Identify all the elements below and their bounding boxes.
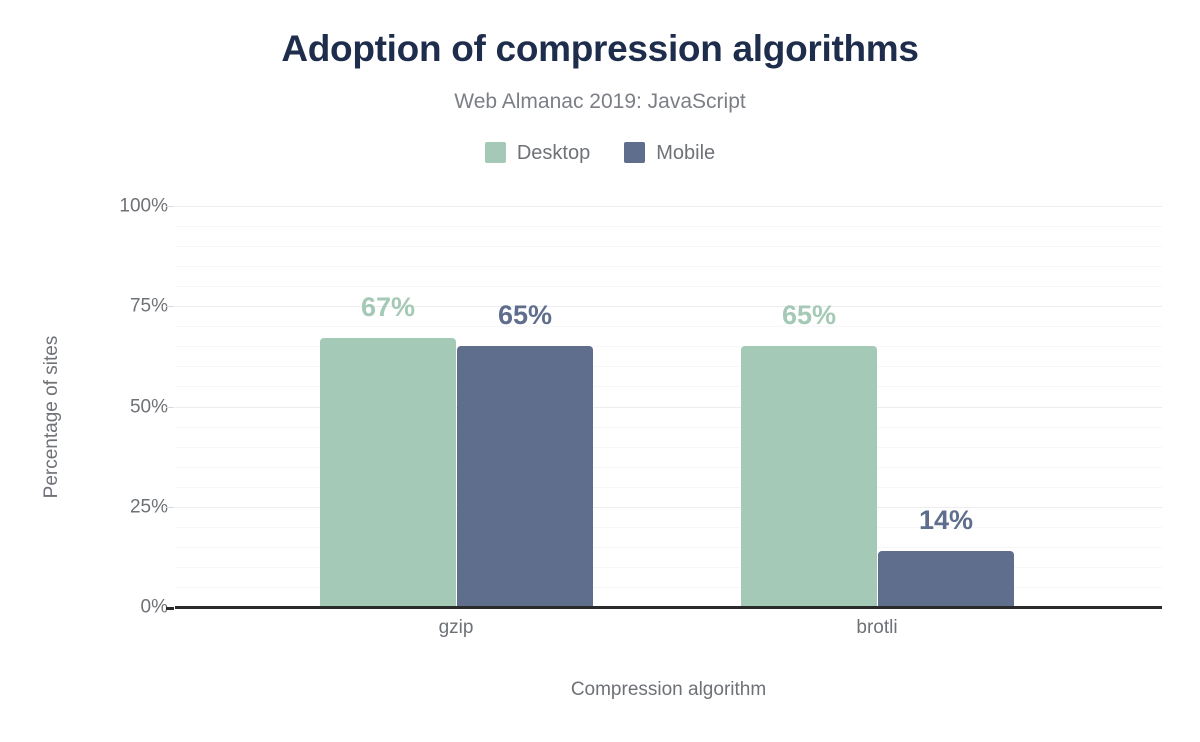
legend-label: Desktop xyxy=(517,143,590,163)
y-axis-tick-label: 75% xyxy=(88,297,168,316)
y-axis-tick-mark xyxy=(166,206,174,207)
gridline-minor xyxy=(175,266,1162,267)
bar-value-label-brotli-mobile: 14% xyxy=(919,507,973,534)
bar-gzip-desktop[interactable] xyxy=(320,338,456,607)
legend-swatch-desktop xyxy=(485,142,506,163)
bar-value-label-brotli-desktop: 65% xyxy=(782,302,836,329)
x-axis-tick-label-brotli: brotli xyxy=(856,618,897,637)
gridline-minor xyxy=(175,246,1162,247)
legend-swatch-mobile xyxy=(624,142,645,163)
gridline-minor xyxy=(175,326,1162,327)
bar-brotli-desktop[interactable] xyxy=(741,346,877,607)
y-axis-tick-mark xyxy=(166,507,174,508)
y-axis-tick-mark xyxy=(166,607,174,610)
chart-legend: DesktopMobile xyxy=(0,142,1200,163)
bar-gzip-mobile[interactable] xyxy=(457,346,593,607)
gridline-major xyxy=(175,306,1162,307)
bar-value-label-gzip-mobile: 65% xyxy=(498,302,552,329)
y-axis-tick-label: 100% xyxy=(88,197,168,216)
bar-value-label-gzip-desktop: 67% xyxy=(361,294,415,321)
gridline-minor xyxy=(175,286,1162,287)
y-axis-tick-mark xyxy=(166,306,174,307)
gridline-major xyxy=(175,206,1162,207)
y-axis-tick-label: 25% xyxy=(88,497,168,516)
legend-item-desktop[interactable]: Desktop xyxy=(485,142,590,163)
chart-subtitle: Web Almanac 2019: JavaScript xyxy=(0,90,1200,114)
y-axis-tick-label: 50% xyxy=(88,397,168,416)
x-axis-tick-label-gzip: gzip xyxy=(439,618,474,637)
y-axis-tick-mark xyxy=(166,407,174,408)
bar-brotli-mobile[interactable] xyxy=(878,551,1014,607)
legend-item-mobile[interactable]: Mobile xyxy=(624,142,715,163)
chart-container: Adoption of compression algorithms Web A… xyxy=(0,0,1200,742)
legend-label: Mobile xyxy=(656,143,715,163)
y-axis-tick-label: 0% xyxy=(88,598,168,617)
x-axis-baseline xyxy=(175,606,1162,609)
y-axis-title: Percentage of sites xyxy=(41,307,63,527)
gridline-minor xyxy=(175,226,1162,227)
plot-area: 67%65%65%14% xyxy=(175,206,1162,607)
x-axis-title: Compression algorithm xyxy=(175,679,1162,701)
chart-title: Adoption of compression algorithms xyxy=(0,28,1200,70)
